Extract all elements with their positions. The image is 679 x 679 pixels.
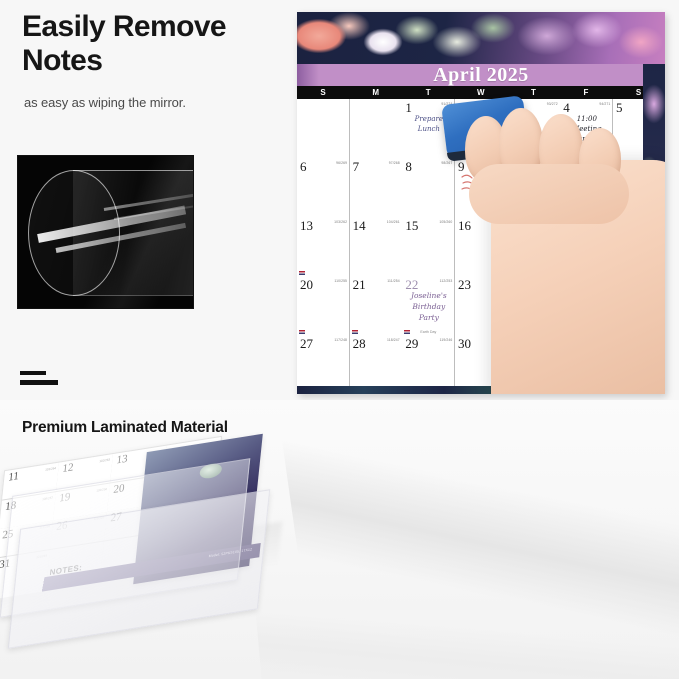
day-number: 6 <box>300 159 307 175</box>
mini-day-ordinal: 101/264 <box>45 466 56 472</box>
laminated-material-section: Premium Laminated Material 11101/2641210… <box>0 400 679 679</box>
day-ordinal: 97/268 <box>389 161 400 165</box>
mini-day-number: 11 <box>8 470 20 484</box>
day-number: 7 <box>353 159 360 175</box>
day-ordinal: 98/267 <box>441 161 452 165</box>
weekday-label-0: S <box>297 86 350 99</box>
day-ordinal: 105/260 <box>439 220 452 224</box>
calendar-month-title: April 2025 <box>297 64 665 86</box>
us-flag-icon <box>404 330 410 334</box>
remove-notes-section: Easily Remove Notes as easy as wiping th… <box>0 0 679 400</box>
day-number: 27 <box>300 336 313 352</box>
calendar-day-cell[interactable]: 14104/261 <box>350 217 402 276</box>
hand-photo <box>465 108 665 394</box>
calendar-day-cell[interactable]: 21111/254 <box>350 276 402 335</box>
day-number: 13 <box>300 218 313 234</box>
calendar-day-cell[interactable]: 20110/255 <box>297 276 349 335</box>
layer-stack-illustration: 11101/26412102/26313103/26218108/2571910… <box>0 452 284 602</box>
day-ordinal: 93/272 <box>547 102 558 106</box>
film-gloss-overlay <box>18 156 193 308</box>
weekday-label-1: M <box>350 86 403 99</box>
calendar-day-cell[interactable] <box>297 99 349 158</box>
calendar-day-cell[interactable]: 22112/253Joseline'sBirthdayPartyEarth Da… <box>402 276 454 335</box>
mini-day-ordinal: 102/263 <box>99 457 110 463</box>
day-ordinal: 96/269 <box>336 161 347 165</box>
day-ordinal: 103/262 <box>334 220 347 224</box>
day-ordinal: 119/246 <box>440 338 453 342</box>
weekday-label-2: T <box>402 86 455 99</box>
calendar-day-cell[interactable]: 696/269 <box>297 158 349 217</box>
section-title: Premium Laminated Material <box>22 419 228 437</box>
day-ordinal: 94/271 <box>599 102 610 106</box>
mini-day-number: 12 <box>62 461 74 475</box>
calendar-day-cell[interactable]: 797/268 <box>350 158 402 217</box>
day-number: 15 <box>405 218 418 234</box>
calendar-day-cell[interactable]: 15105/260 <box>402 217 454 276</box>
section-divider-dashes <box>20 371 60 387</box>
us-flag-icon <box>299 271 305 275</box>
day-number: 8 <box>405 159 412 175</box>
day-number: 29 <box>405 336 418 352</box>
day-ordinal: 112/253 <box>440 279 453 283</box>
mini-day-number: 13 <box>116 453 128 467</box>
day-ordinal: 110/255 <box>334 279 347 283</box>
knuckle-shape <box>469 164 629 224</box>
us-flag-icon <box>299 330 305 334</box>
day-ordinal: 117/248 <box>334 338 347 342</box>
day-ordinal: 118/247 <box>387 338 400 342</box>
wall-calendar-photo: April 2025 SMTWTFS 191/274PrepareLunch29… <box>297 12 665 394</box>
transparent-film-photo <box>18 156 193 308</box>
weekday-label-5: F <box>560 86 613 99</box>
day-number: 21 <box>353 277 366 293</box>
calendar-day-cell[interactable]: 13103/262 <box>297 217 349 276</box>
day-ordinal: 111/254 <box>387 279 399 283</box>
day-number: 14 <box>353 218 366 234</box>
page-headline: Easily Remove Notes <box>22 10 292 78</box>
day-number: 20 <box>300 277 313 293</box>
page-subheadline: as easy as wiping the mirror. <box>24 95 304 110</box>
calendar-day-cell[interactable] <box>350 99 402 158</box>
us-flag-icon <box>352 330 358 334</box>
calendar-day-cell[interactable]: 898/267 <box>402 158 454 217</box>
day-number: 28 <box>353 336 366 352</box>
handwritten-note: Joseline'sBirthdayParty <box>405 291 452 324</box>
floral-header-art <box>297 12 665 64</box>
weekday-header-bar: SMTWTFS <box>297 86 665 99</box>
day-ordinal: 104/261 <box>387 220 400 224</box>
